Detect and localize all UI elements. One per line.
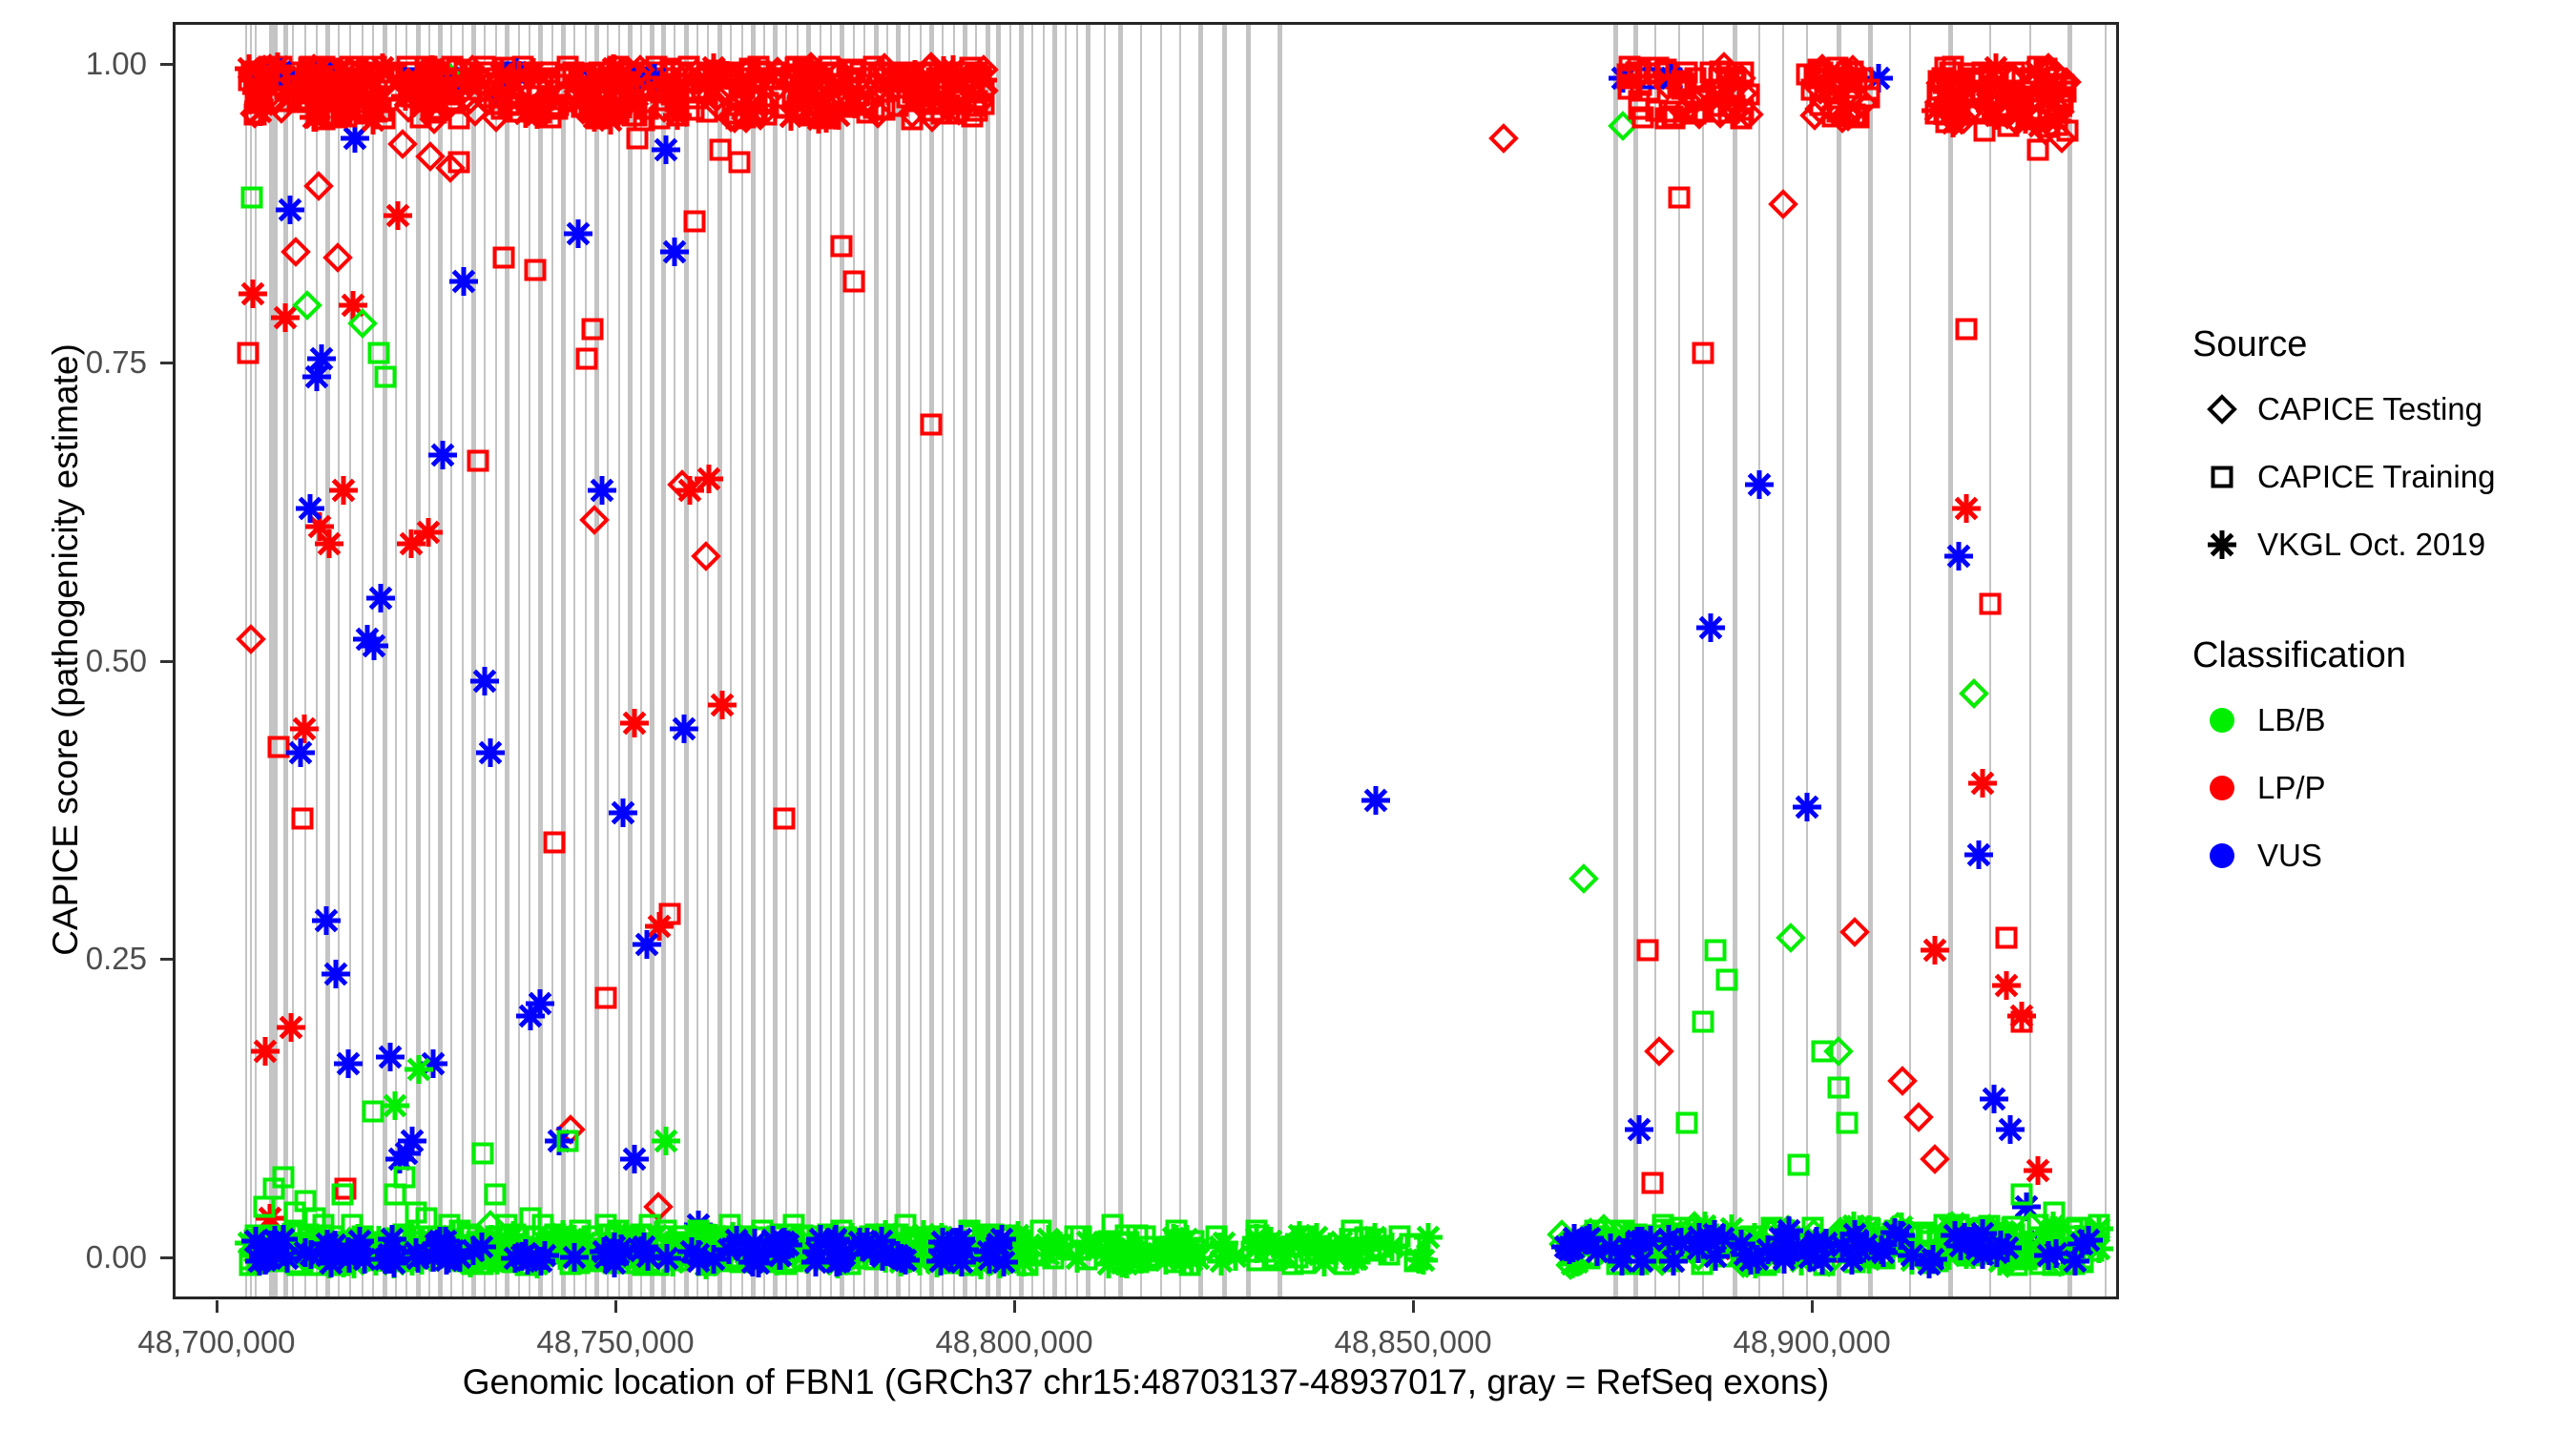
data-point bbox=[487, 92, 511, 116]
x-tick-mark bbox=[1013, 1300, 1016, 1313]
data-point bbox=[1644, 98, 1669, 123]
data-point bbox=[613, 1231, 637, 1255]
data-point bbox=[745, 1225, 770, 1250]
data-point bbox=[1999, 63, 2029, 93]
data-point bbox=[587, 1239, 617, 1270]
data-point bbox=[628, 1239, 658, 1270]
data-point bbox=[796, 53, 826, 84]
data-point bbox=[552, 1225, 583, 1255]
data-point bbox=[606, 1218, 631, 1243]
data-point bbox=[1857, 77, 1881, 102]
data-point bbox=[1668, 1215, 1693, 1240]
data-point bbox=[1647, 1246, 1677, 1276]
data-point bbox=[448, 266, 479, 297]
data-point bbox=[1709, 52, 1739, 82]
data-point bbox=[243, 88, 274, 118]
plot-panel[interactable] bbox=[173, 22, 2119, 1299]
data-point bbox=[485, 66, 509, 91]
data-point bbox=[319, 56, 343, 81]
data-point bbox=[673, 1234, 697, 1259]
data-point bbox=[1284, 1220, 1315, 1251]
data-point bbox=[1980, 1228, 2005, 1253]
data-point bbox=[255, 66, 280, 91]
data-point bbox=[649, 80, 674, 105]
data-point bbox=[472, 86, 503, 116]
data-point bbox=[271, 1165, 296, 1190]
data-point bbox=[1832, 1216, 1862, 1247]
data-point bbox=[885, 1247, 916, 1277]
data-point bbox=[364, 54, 388, 79]
y-tick-label: 1.00 bbox=[40, 48, 147, 79]
data-point bbox=[427, 1230, 452, 1255]
data-point bbox=[266, 93, 297, 124]
data-point bbox=[257, 54, 281, 79]
data-point bbox=[2025, 137, 2050, 162]
data-point bbox=[1045, 1231, 1075, 1261]
data-point bbox=[823, 72, 848, 96]
data-point bbox=[1835, 60, 1859, 85]
data-point bbox=[285, 737, 316, 768]
data-point bbox=[2005, 83, 2035, 114]
data-point bbox=[315, 1235, 345, 1266]
data-point bbox=[621, 1245, 652, 1275]
data-point bbox=[292, 290, 322, 321]
data-point bbox=[890, 1245, 921, 1275]
data-point bbox=[772, 806, 797, 831]
data-point bbox=[361, 97, 385, 122]
data-point bbox=[911, 1228, 942, 1258]
data-point bbox=[426, 1224, 450, 1249]
data-point bbox=[594, 78, 619, 103]
y-tick-mark bbox=[160, 362, 173, 364]
data-point bbox=[794, 69, 819, 93]
data-point bbox=[461, 1252, 486, 1276]
data-point bbox=[379, 1249, 409, 1279]
data-point bbox=[491, 1234, 522, 1264]
data-point bbox=[837, 1238, 862, 1263]
data-point bbox=[931, 1235, 962, 1266]
data-point bbox=[826, 1240, 851, 1265]
data-point bbox=[407, 78, 438, 109]
data-point bbox=[1629, 73, 1653, 97]
data-point bbox=[298, 55, 328, 86]
data-point bbox=[1574, 1223, 1605, 1254]
data-point bbox=[285, 90, 310, 114]
dot-icon bbox=[2187, 776, 2257, 800]
y-tick-mark bbox=[160, 660, 173, 663]
legend-item[interactable]: LB/B bbox=[2187, 686, 2568, 754]
data-point bbox=[648, 72, 678, 102]
data-point bbox=[670, 1224, 695, 1249]
data-point bbox=[2011, 79, 2036, 104]
data-point bbox=[753, 60, 778, 85]
data-point bbox=[918, 89, 943, 114]
data-point bbox=[1925, 1228, 1950, 1253]
data-point bbox=[307, 66, 332, 91]
data-point bbox=[762, 1240, 787, 1265]
data-point bbox=[1838, 54, 1868, 85]
data-point bbox=[663, 66, 688, 91]
data-point bbox=[2041, 59, 2071, 90]
data-point bbox=[1363, 1238, 1388, 1263]
data-point bbox=[460, 96, 490, 127]
data-point bbox=[1624, 60, 1649, 85]
data-point bbox=[1992, 63, 2017, 88]
data-point bbox=[874, 1234, 904, 1264]
data-point bbox=[302, 78, 327, 103]
data-point bbox=[916, 1232, 941, 1256]
data-point bbox=[426, 1236, 457, 1267]
data-point bbox=[438, 1221, 468, 1252]
data-point bbox=[1684, 99, 1714, 130]
data-point bbox=[281, 78, 306, 103]
y-tick-mark bbox=[160, 1256, 173, 1259]
data-point bbox=[1992, 1233, 2023, 1263]
data-point bbox=[260, 1242, 291, 1273]
data-point bbox=[754, 102, 779, 127]
data-point bbox=[1177, 1253, 1202, 1277]
data-point bbox=[894, 1232, 919, 1256]
data-point bbox=[598, 1222, 623, 1247]
legend-item[interactable]: CAPICE Testing bbox=[2187, 375, 2568, 443]
data-point bbox=[548, 1238, 578, 1269]
data-point bbox=[2046, 123, 2077, 154]
data-point bbox=[414, 1238, 445, 1269]
data-point bbox=[878, 1232, 908, 1262]
data-point bbox=[447, 106, 471, 131]
data-point bbox=[1041, 1246, 1066, 1271]
data-point bbox=[424, 100, 448, 125]
data-point bbox=[2087, 1213, 2111, 1237]
asterisk-icon bbox=[2187, 529, 2257, 560]
data-point bbox=[1690, 1252, 1714, 1276]
data-point bbox=[468, 1240, 499, 1271]
data-point bbox=[483, 1182, 508, 1207]
data-point bbox=[370, 66, 395, 91]
data-point bbox=[2076, 1230, 2107, 1260]
data-point bbox=[1938, 76, 1963, 101]
data-point bbox=[1718, 1244, 1743, 1269]
data-point bbox=[546, 93, 571, 117]
legend-item-label: CAPICE Testing bbox=[2257, 391, 2483, 427]
data-point bbox=[334, 74, 359, 99]
data-point bbox=[555, 1234, 586, 1264]
data-point bbox=[470, 1141, 495, 1166]
data-point bbox=[522, 1249, 552, 1279]
data-point bbox=[661, 1243, 686, 1268]
data-point bbox=[573, 1246, 598, 1271]
data-point bbox=[1637, 78, 1662, 103]
data-point bbox=[280, 237, 311, 267]
data-point bbox=[829, 1218, 854, 1243]
data-point bbox=[260, 1225, 290, 1255]
data-point bbox=[735, 1242, 759, 1267]
data-point bbox=[401, 1237, 431, 1268]
data-point bbox=[992, 1245, 1017, 1270]
data-point bbox=[349, 1244, 380, 1275]
data-point bbox=[1880, 1217, 1910, 1248]
data-point bbox=[525, 988, 555, 1019]
data-point bbox=[1978, 74, 2003, 99]
data-point bbox=[659, 82, 684, 107]
data-point bbox=[2020, 67, 2045, 92]
data-point bbox=[974, 1244, 1005, 1275]
data-point bbox=[547, 1235, 571, 1260]
data-point bbox=[708, 137, 733, 162]
data-point bbox=[1833, 101, 1863, 132]
data-point bbox=[1387, 1224, 1412, 1249]
data-point bbox=[1825, 55, 1850, 80]
data-point bbox=[957, 62, 987, 93]
data-point bbox=[1653, 1224, 1684, 1255]
data-point bbox=[608, 86, 633, 111]
data-point bbox=[897, 98, 927, 129]
data-point bbox=[996, 1241, 1021, 1266]
data-point bbox=[399, 66, 424, 91]
data-point bbox=[403, 1243, 433, 1274]
data-point bbox=[549, 66, 573, 91]
data-point bbox=[1769, 1244, 1799, 1275]
data-point bbox=[1868, 1242, 1893, 1267]
data-point bbox=[2053, 79, 2078, 104]
data-point bbox=[675, 1232, 700, 1256]
data-point bbox=[245, 96, 276, 127]
data-point bbox=[309, 1223, 334, 1248]
data-point bbox=[921, 92, 945, 116]
legend-item[interactable]: LP/P bbox=[2187, 754, 2568, 821]
data-point bbox=[914, 61, 939, 86]
data-point bbox=[809, 1245, 834, 1270]
data-point bbox=[840, 89, 870, 119]
data-point bbox=[368, 71, 399, 101]
data-point bbox=[858, 1224, 883, 1249]
data-point bbox=[1285, 1227, 1316, 1257]
data-point bbox=[2040, 1215, 2070, 1246]
data-point bbox=[1839, 79, 1869, 110]
data-point bbox=[2014, 1247, 2039, 1272]
data-point bbox=[455, 84, 486, 114]
legend-item[interactable]: CAPICE Training bbox=[2187, 443, 2568, 510]
data-point bbox=[973, 1229, 1004, 1259]
data-point bbox=[1965, 1216, 1990, 1241]
data-point bbox=[801, 1236, 832, 1267]
data-point bbox=[2025, 1234, 2055, 1265]
data-point bbox=[426, 88, 457, 118]
data-point bbox=[1205, 1232, 1236, 1262]
data-point bbox=[311, 1243, 342, 1274]
data-point bbox=[928, 77, 953, 102]
data-point bbox=[1363, 1227, 1388, 1252]
data-point bbox=[1627, 1246, 1657, 1276]
data-point bbox=[2020, 89, 2045, 114]
data-point bbox=[870, 1243, 901, 1274]
data-point bbox=[867, 1241, 898, 1272]
data-point bbox=[696, 77, 720, 102]
data-point bbox=[359, 631, 389, 661]
data-point bbox=[242, 1237, 273, 1268]
data-point bbox=[1999, 1221, 2029, 1252]
data-point bbox=[530, 1240, 560, 1271]
data-point bbox=[433, 66, 458, 91]
data-point bbox=[603, 1238, 634, 1269]
data-point bbox=[333, 1048, 364, 1079]
legend-item[interactable]: VKGL Oct. 2019 bbox=[2187, 510, 2568, 578]
data-point bbox=[1927, 77, 1952, 102]
data-point bbox=[312, 107, 337, 132]
data-point bbox=[1978, 591, 2003, 616]
data-point bbox=[1985, 66, 2010, 91]
data-point bbox=[427, 1234, 458, 1264]
data-point bbox=[1662, 106, 1687, 131]
data-point bbox=[805, 1224, 836, 1255]
data-point bbox=[811, 103, 841, 134]
y-tick-label: 0.25 bbox=[40, 943, 147, 974]
data-point bbox=[1645, 1236, 1670, 1261]
data-point bbox=[912, 81, 937, 106]
data-point bbox=[1959, 61, 1984, 86]
square-outline-icon bbox=[2187, 465, 2257, 489]
data-point bbox=[1684, 1222, 1714, 1253]
data-point bbox=[970, 1223, 995, 1248]
data-point bbox=[666, 72, 691, 96]
data-point bbox=[975, 1242, 1000, 1267]
data-point bbox=[936, 1241, 966, 1272]
data-point bbox=[1959, 678, 1989, 709]
data-point bbox=[1292, 1224, 1317, 1249]
data-point bbox=[1834, 1214, 1864, 1245]
data-point bbox=[1994, 925, 2019, 950]
x-tick-label: 48,750,000 bbox=[491, 1324, 739, 1360]
data-point bbox=[1673, 1239, 1698, 1264]
data-point bbox=[862, 98, 893, 129]
data-point bbox=[259, 1234, 283, 1258]
data-point bbox=[965, 60, 989, 85]
data-point bbox=[619, 1234, 650, 1264]
data-point bbox=[2050, 89, 2075, 114]
data-point bbox=[576, 1243, 601, 1268]
data-point bbox=[340, 80, 364, 105]
data-point bbox=[238, 1247, 262, 1272]
data-point bbox=[730, 1234, 760, 1265]
data-point bbox=[1801, 1226, 1832, 1256]
data-point bbox=[1259, 1232, 1290, 1262]
data-point bbox=[301, 1237, 325, 1262]
data-point bbox=[456, 62, 487, 93]
data-point bbox=[255, 1203, 285, 1234]
data-point bbox=[842, 58, 867, 83]
data-point bbox=[683, 1210, 714, 1240]
data-point bbox=[819, 80, 849, 111]
data-point bbox=[1158, 1236, 1189, 1267]
data-point bbox=[1854, 1214, 1884, 1245]
data-point bbox=[494, 69, 519, 93]
data-point bbox=[1963, 1218, 1988, 1243]
data-point bbox=[631, 1253, 655, 1277]
data-point bbox=[523, 1239, 553, 1270]
data-point bbox=[298, 54, 322, 79]
data-point bbox=[818, 1229, 848, 1259]
data-point bbox=[1886, 1212, 1917, 1242]
data-point bbox=[312, 1229, 343, 1259]
data-point bbox=[333, 1176, 358, 1201]
data-point bbox=[931, 74, 956, 99]
data-point bbox=[988, 1224, 1013, 1249]
data-point bbox=[383, 1226, 407, 1251]
data-point bbox=[780, 81, 805, 106]
data-point bbox=[2034, 60, 2059, 85]
data-point bbox=[757, 1229, 787, 1259]
data-point bbox=[318, 1232, 348, 1262]
data-point bbox=[239, 98, 270, 129]
data-point bbox=[1857, 85, 1881, 110]
data-point bbox=[236, 341, 260, 365]
data-point bbox=[949, 1234, 980, 1265]
data-point bbox=[1981, 100, 2011, 131]
data-point bbox=[504, 66, 529, 91]
data-point bbox=[1695, 612, 1726, 643]
data-point bbox=[1837, 1245, 1867, 1275]
data-point bbox=[1835, 82, 1865, 113]
data-point bbox=[2021, 56, 2051, 87]
data-point bbox=[282, 1200, 307, 1225]
data-point bbox=[900, 59, 930, 90]
data-point bbox=[364, 84, 395, 114]
data-point bbox=[681, 58, 712, 89]
data-point bbox=[1986, 76, 2017, 107]
data-point bbox=[629, 1222, 654, 1247]
data-point bbox=[243, 102, 268, 127]
data-point bbox=[603, 96, 634, 127]
data-point bbox=[343, 1223, 373, 1254]
data-point bbox=[844, 1227, 875, 1257]
data-point bbox=[536, 70, 561, 94]
data-point bbox=[321, 959, 351, 989]
data-point bbox=[657, 902, 682, 926]
data-point bbox=[252, 1194, 277, 1219]
data-point bbox=[400, 74, 425, 99]
data-point bbox=[1127, 1245, 1152, 1270]
data-point bbox=[817, 54, 841, 79]
data-point bbox=[1703, 938, 1728, 963]
data-point bbox=[1143, 1238, 1174, 1269]
data-point bbox=[1273, 1233, 1303, 1263]
data-point bbox=[302, 1206, 327, 1231]
data-point bbox=[1970, 60, 1995, 85]
data-point bbox=[1015, 1253, 1040, 1277]
data-point bbox=[852, 1233, 877, 1257]
data-point bbox=[1008, 1247, 1039, 1277]
legend-item[interactable]: VUS bbox=[2187, 821, 2568, 889]
data-point bbox=[771, 61, 801, 92]
data-point bbox=[663, 1231, 688, 1255]
data-point bbox=[916, 52, 946, 82]
data-point bbox=[987, 1224, 1017, 1255]
data-point bbox=[830, 87, 855, 112]
data-point bbox=[2025, 111, 2055, 141]
data-point bbox=[321, 102, 345, 127]
data-point bbox=[405, 1239, 435, 1270]
data-point bbox=[395, 54, 420, 79]
data-point bbox=[819, 1231, 843, 1255]
data-point bbox=[1631, 105, 1655, 130]
data-point bbox=[1690, 1211, 1720, 1241]
data-point bbox=[1914, 1249, 1944, 1279]
data-point bbox=[1622, 1226, 1652, 1256]
data-point bbox=[285, 1222, 310, 1247]
data-point bbox=[459, 66, 484, 91]
data-point bbox=[764, 1245, 789, 1270]
data-point bbox=[2052, 74, 2077, 99]
